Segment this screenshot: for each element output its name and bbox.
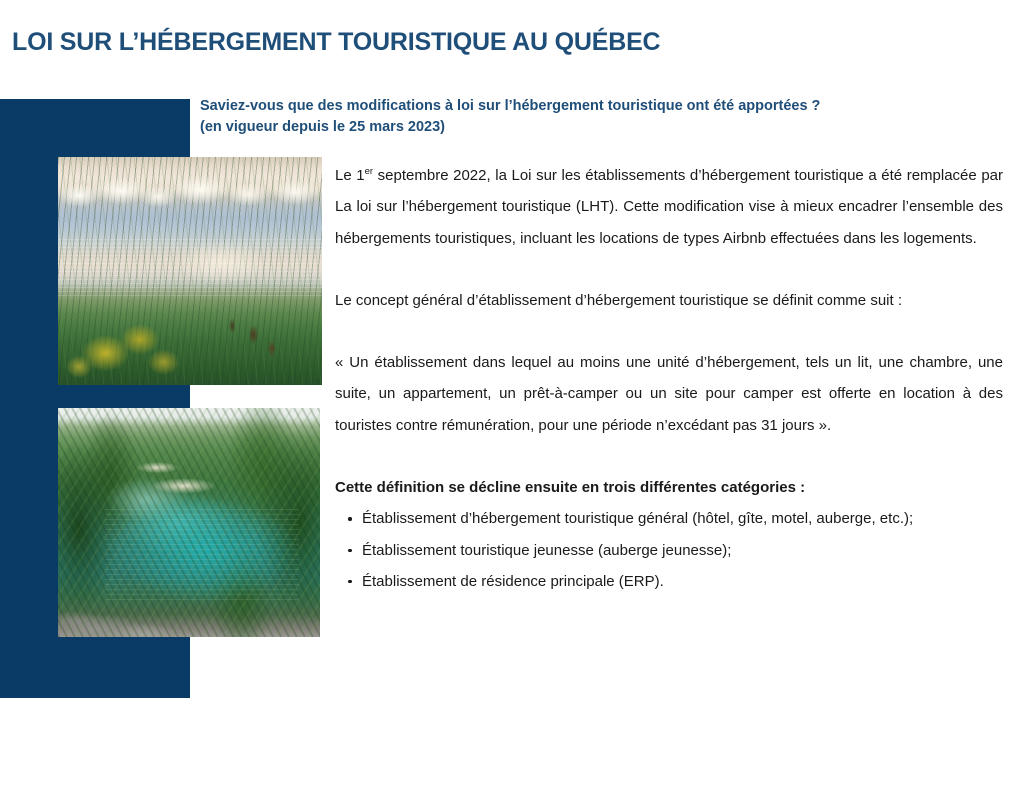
list-item: Établissement touristique jeunesse (aube…: [335, 535, 1003, 566]
list-item: Établissement de résidence principale (E…: [335, 566, 1003, 597]
categories-lead: Cette définition se décline ensuite en t…: [335, 472, 1003, 503]
list-item: Établissement d’hébergement touristique …: [335, 503, 1003, 534]
river-valley-photo-art: [58, 408, 320, 637]
paragraph-1: Le 1er septembre 2022, la Loi sur les ét…: [335, 160, 1003, 254]
subtitle-line-1: Saviez-vous que des modifications à loi …: [200, 96, 990, 117]
paragraph-3: « Un établissement dans lequel au moins …: [335, 347, 1003, 441]
body-content: Le 1er septembre 2022, la Loi sur les ét…: [335, 160, 1003, 597]
paragraph-2: Le concept général d’établissement d’héb…: [335, 285, 1003, 316]
page-title: LOI SUR L’HÉBERGEMENT TOURISTIQUE AU QUÉ…: [12, 28, 912, 57]
paragraph-1-prefix: Le 1: [335, 167, 365, 184]
seascape-photo: [58, 157, 322, 385]
subtitle-block: Saviez-vous que des modifications à loi …: [200, 96, 990, 138]
ordinal-suffix: er: [365, 166, 373, 177]
paragraph-1-rest: septembre 2022, la Loi sur les établisse…: [335, 167, 1003, 247]
seascape-photo-art: [58, 157, 322, 385]
subtitle-line-2: (en vigueur depuis le 25 mars 2023): [200, 117, 990, 138]
river-valley-photo: [58, 408, 320, 637]
categories-list: Établissement d’hébergement touristique …: [335, 503, 1003, 597]
